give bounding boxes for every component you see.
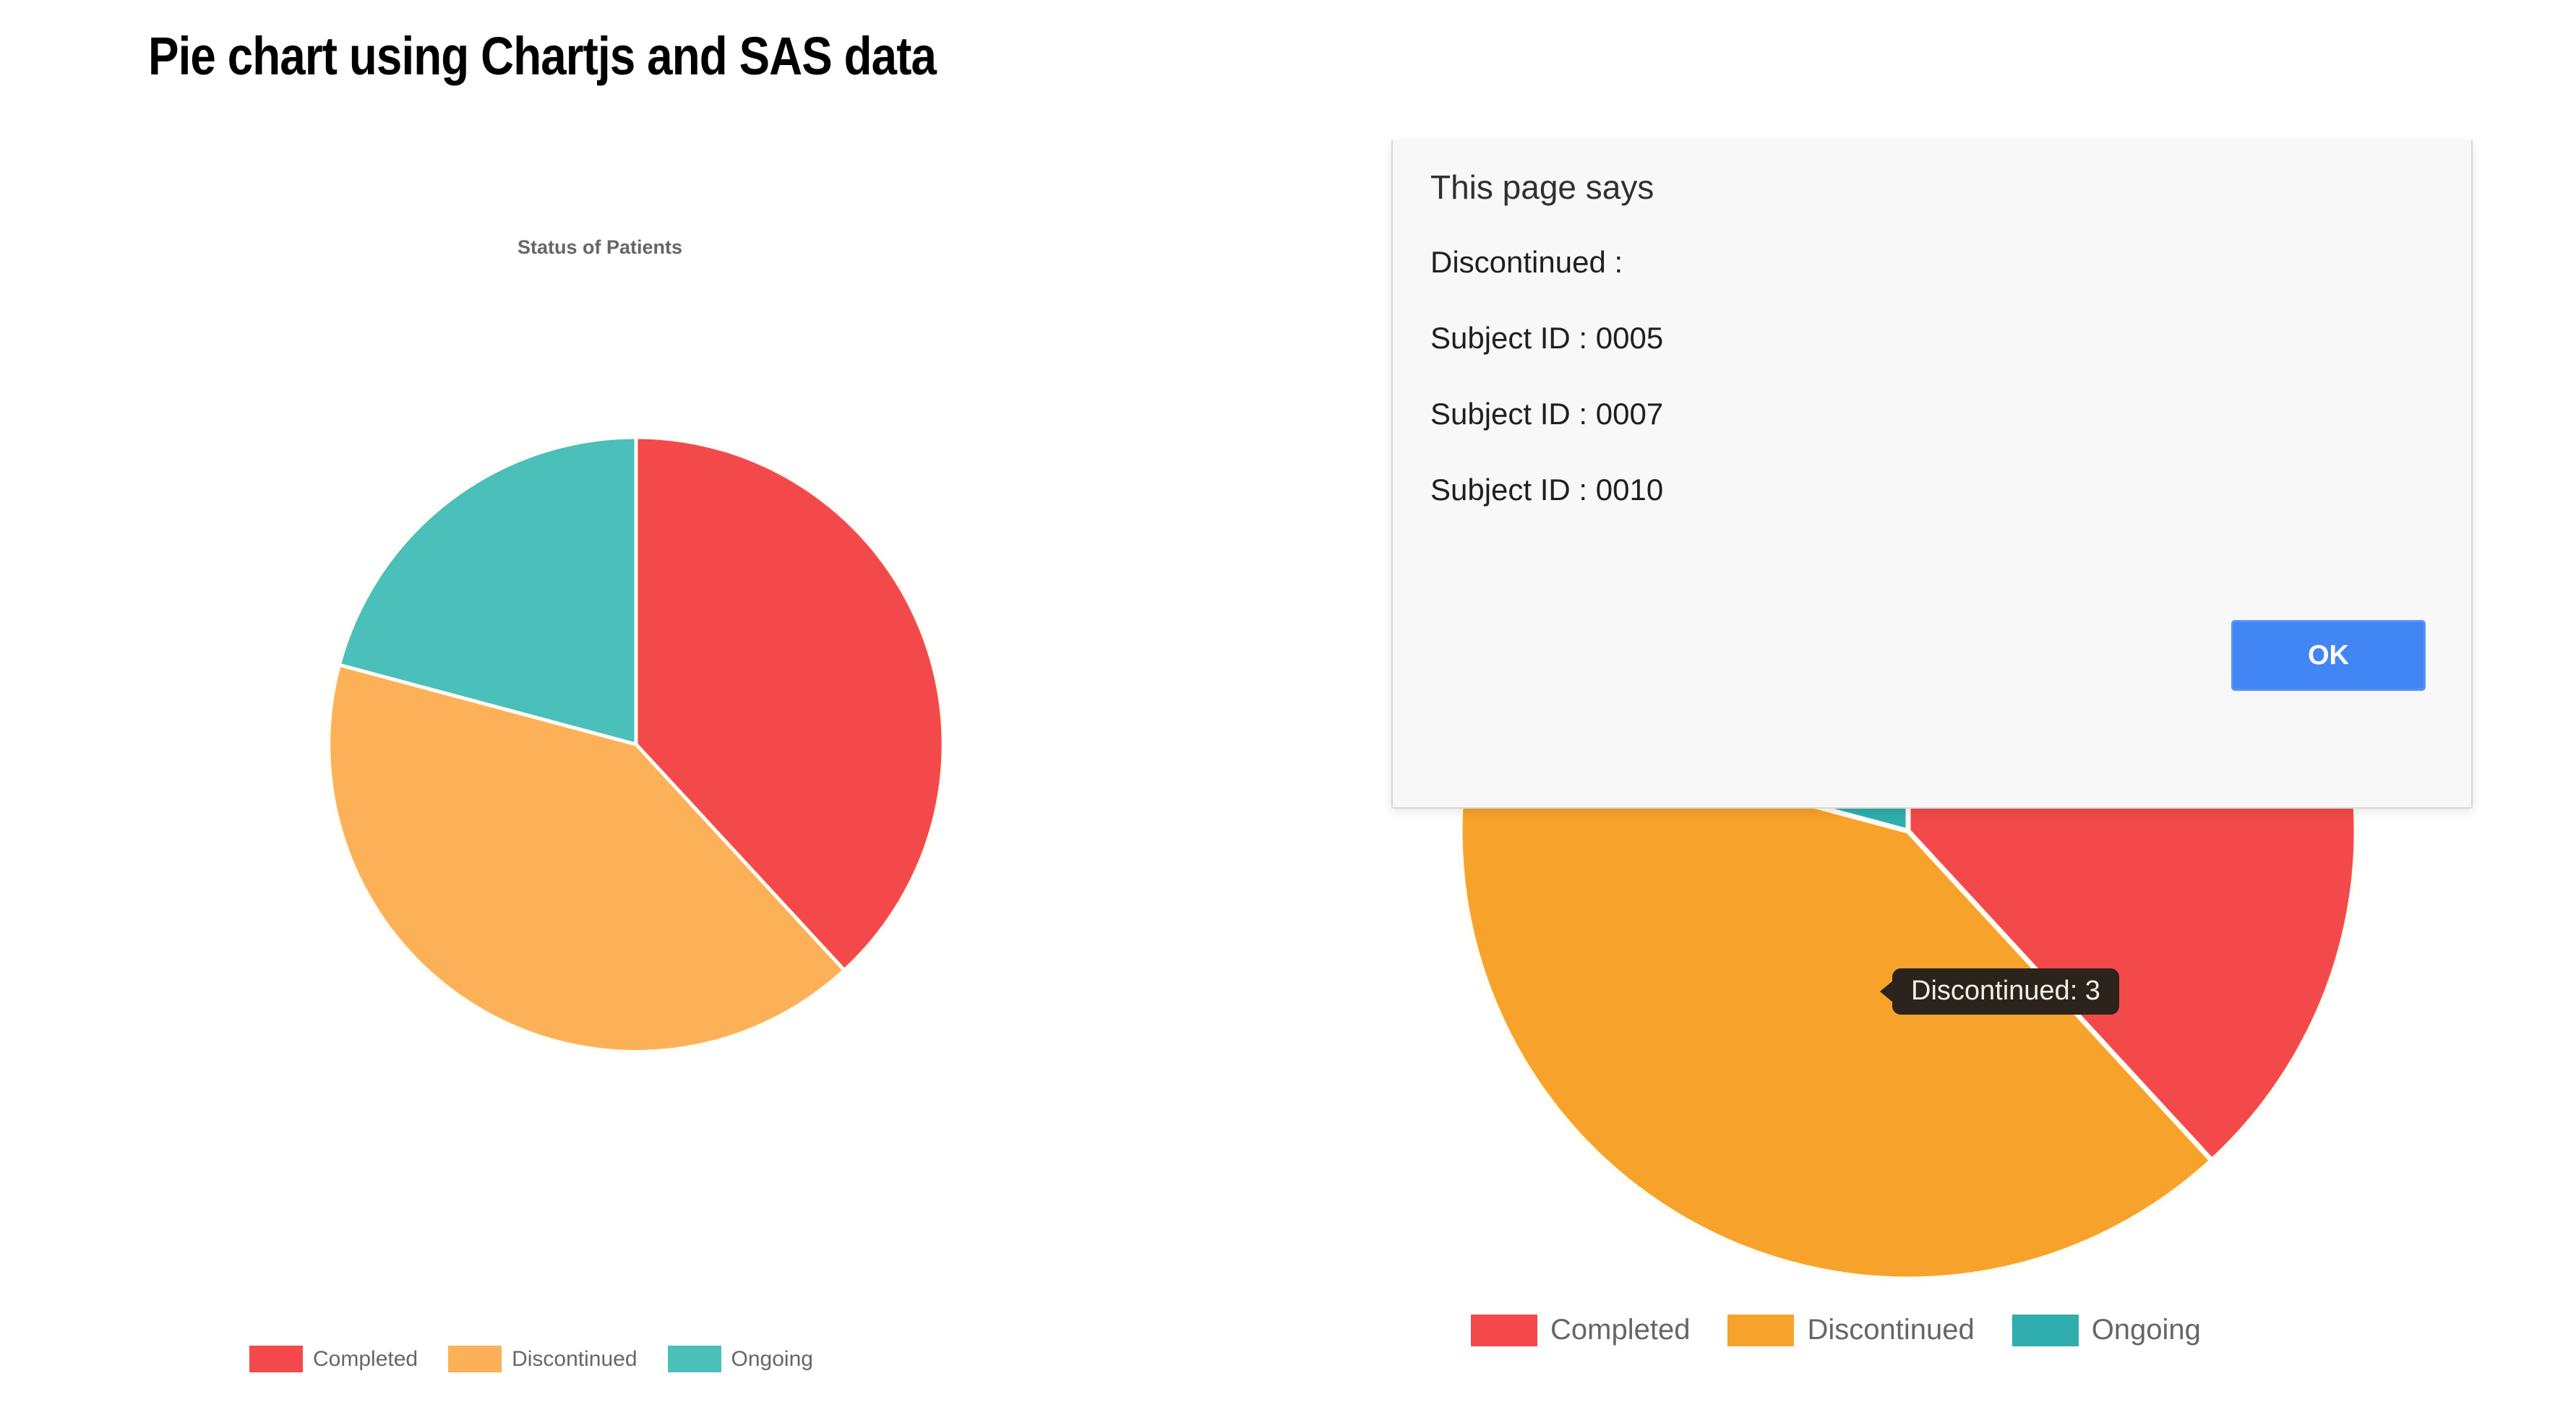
- legend-label-discontinued: Discontinued: [1807, 1314, 1974, 1346]
- left-pie-canvas[interactable]: [329, 437, 943, 1051]
- left-chart-legend: Completed Discontinued Ongoing: [249, 1346, 843, 1372]
- dialog-message-line: Subject ID : 0007: [1430, 397, 1663, 431]
- dialog-heading: This page says: [1430, 168, 1654, 207]
- legend-item-completed[interactable]: Completed: [249, 1346, 418, 1372]
- legend-label-discontinued: Discontinued: [512, 1347, 637, 1372]
- legend-item-ongoing[interactable]: Ongoing: [2012, 1314, 2201, 1346]
- left-pie-svg[interactable]: [329, 437, 943, 1051]
- page-artifact: [1417, 1395, 2400, 1408]
- legend-label-completed: Completed: [313, 1347, 418, 1372]
- legend-swatch-completed: [1471, 1315, 1537, 1346]
- legend-item-completed[interactable]: Completed: [1471, 1314, 1690, 1346]
- chart-tooltip-text: Discontinued: 3: [1911, 976, 2100, 1006]
- legend-swatch-discontinued: [1727, 1315, 1794, 1346]
- legend-swatch-completed: [249, 1346, 303, 1372]
- browser-alert-dialog: This page says Discontinued : Subject ID…: [1391, 140, 2473, 809]
- ok-button[interactable]: OK: [2231, 620, 2426, 691]
- legend-swatch-ongoing: [2012, 1315, 2079, 1346]
- legend-label-completed: Completed: [1550, 1314, 1690, 1346]
- right-chart-legend: Completed Discontinued Ongoing: [1471, 1314, 2238, 1346]
- dialog-message-line: Subject ID : 0010: [1430, 473, 1663, 507]
- dialog-message-line: Discontinued :: [1430, 245, 1623, 280]
- legend-item-ongoing[interactable]: Ongoing: [668, 1346, 813, 1372]
- legend-label-ongoing: Ongoing: [2092, 1314, 2201, 1346]
- legend-swatch-ongoing: [668, 1346, 721, 1372]
- dialog-message-line: Subject ID : 0005: [1430, 321, 1663, 356]
- legend-label-ongoing: Ongoing: [731, 1347, 813, 1372]
- left-chart-title: Status of Patients: [434, 236, 766, 259]
- legend-swatch-discontinued: [448, 1346, 502, 1372]
- chart-tooltip: Discontinued: 3: [1892, 968, 2119, 1015]
- legend-item-discontinued[interactable]: Discontinued: [1727, 1314, 1974, 1346]
- page-title: Pie chart using Chartjs and SAS data: [148, 25, 936, 87]
- legend-item-discontinued[interactable]: Discontinued: [448, 1346, 637, 1372]
